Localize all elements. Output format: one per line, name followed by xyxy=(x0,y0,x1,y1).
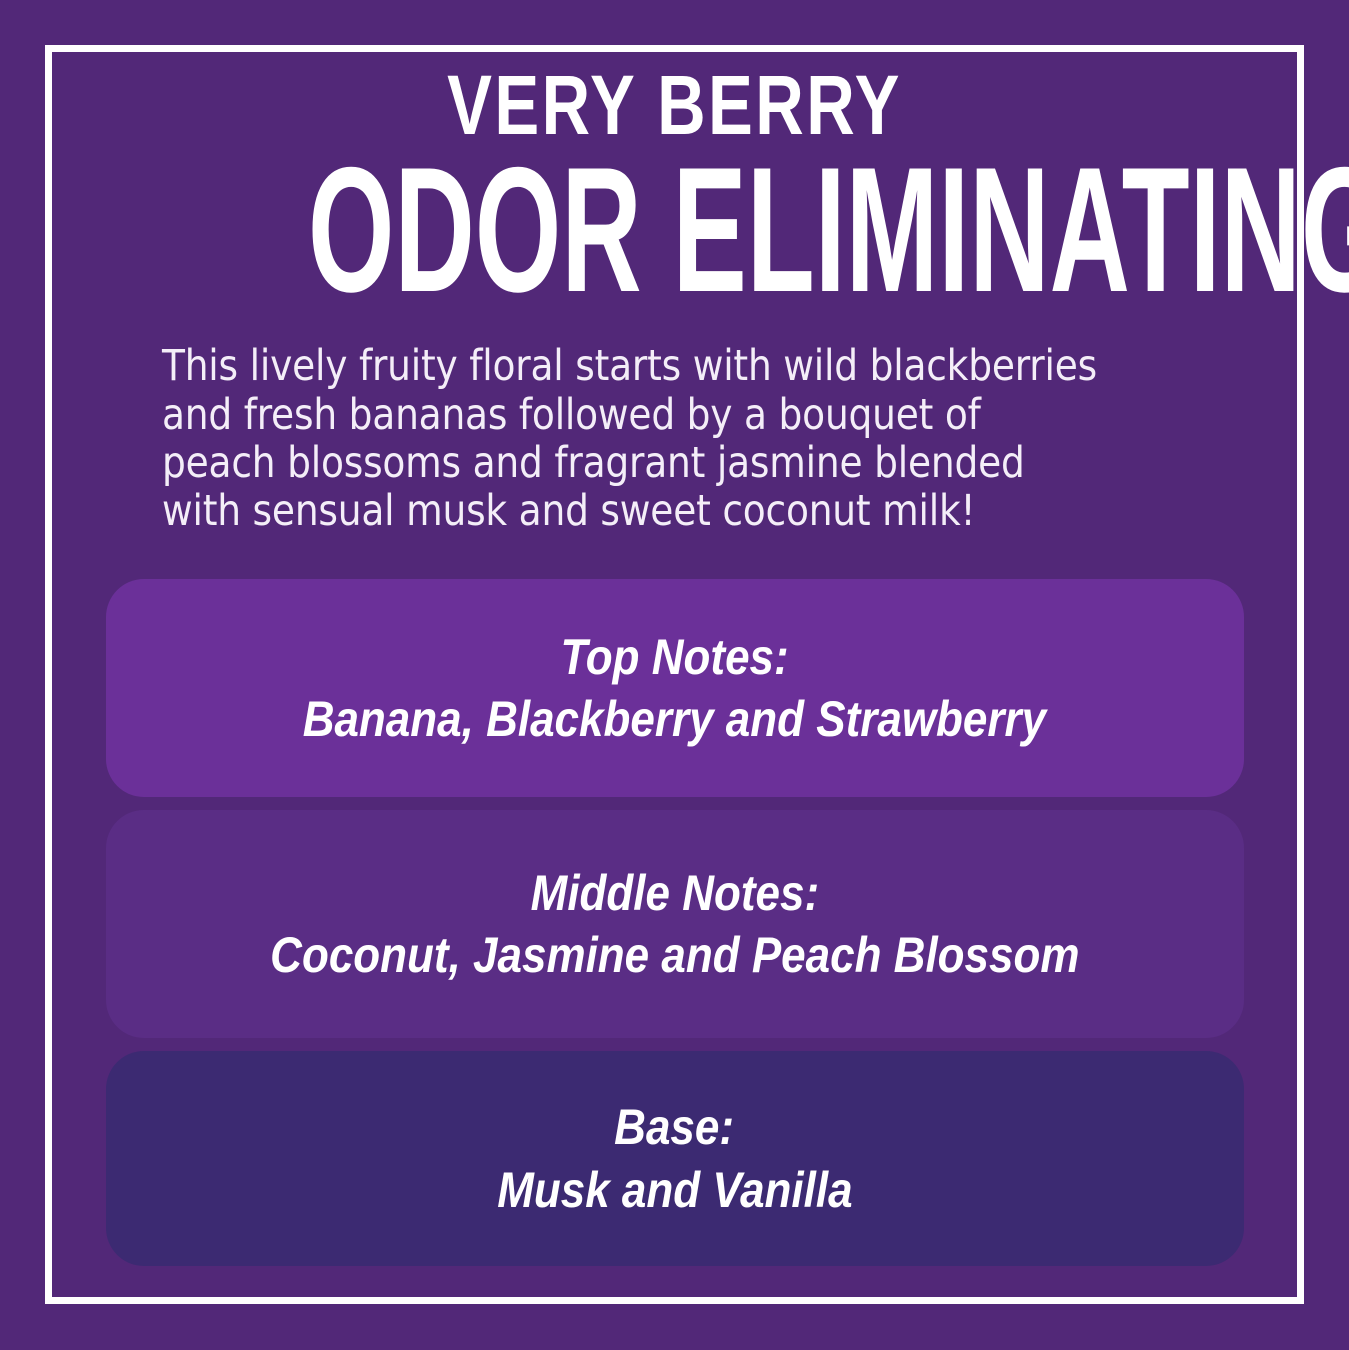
note-card-middle-detail: Coconut, Jasmine and Peach Blossom xyxy=(270,929,1079,982)
note-card-middle-heading: Middle Notes: xyxy=(530,867,818,920)
description-line-2: and fresh bananas followed by a bouquet … xyxy=(162,391,1219,439)
description-line-4: with sensual musk and sweet coconut milk… xyxy=(162,487,1219,535)
fragrance-notes-list: Top Notes: Banana, Blackberry and Strawb… xyxy=(88,579,1261,1266)
note-card-top: Top Notes: Banana, Blackberry and Strawb… xyxy=(106,579,1244,797)
note-card-top-heading: Top Notes: xyxy=(560,631,788,684)
description-line-3: peach blossoms and fragrant jasmine blen… xyxy=(162,439,1219,487)
fragrance-description: This lively fruity floral starts with wi… xyxy=(162,342,1219,535)
note-card-base-heading: Base: xyxy=(615,1101,735,1154)
note-card-base: Base: Musk and Vanilla xyxy=(106,1051,1244,1266)
page-title: ODOR ELIMINATING xyxy=(308,152,1041,309)
note-card-base-detail: Musk and Vanilla xyxy=(497,1164,852,1217)
description-line-1: This lively fruity floral starts with wi… xyxy=(162,342,1219,390)
content-container: VERY BERRY ODOR ELIMINATING This lively … xyxy=(0,0,1349,1350)
product-fragrance-infographic: VERY BERRY ODOR ELIMINATING This lively … xyxy=(0,0,1349,1350)
note-card-top-detail: Banana, Blackberry and Strawberry xyxy=(303,693,1046,746)
note-card-middle: Middle Notes: Coconut, Jasmine and Peach… xyxy=(106,810,1244,1038)
